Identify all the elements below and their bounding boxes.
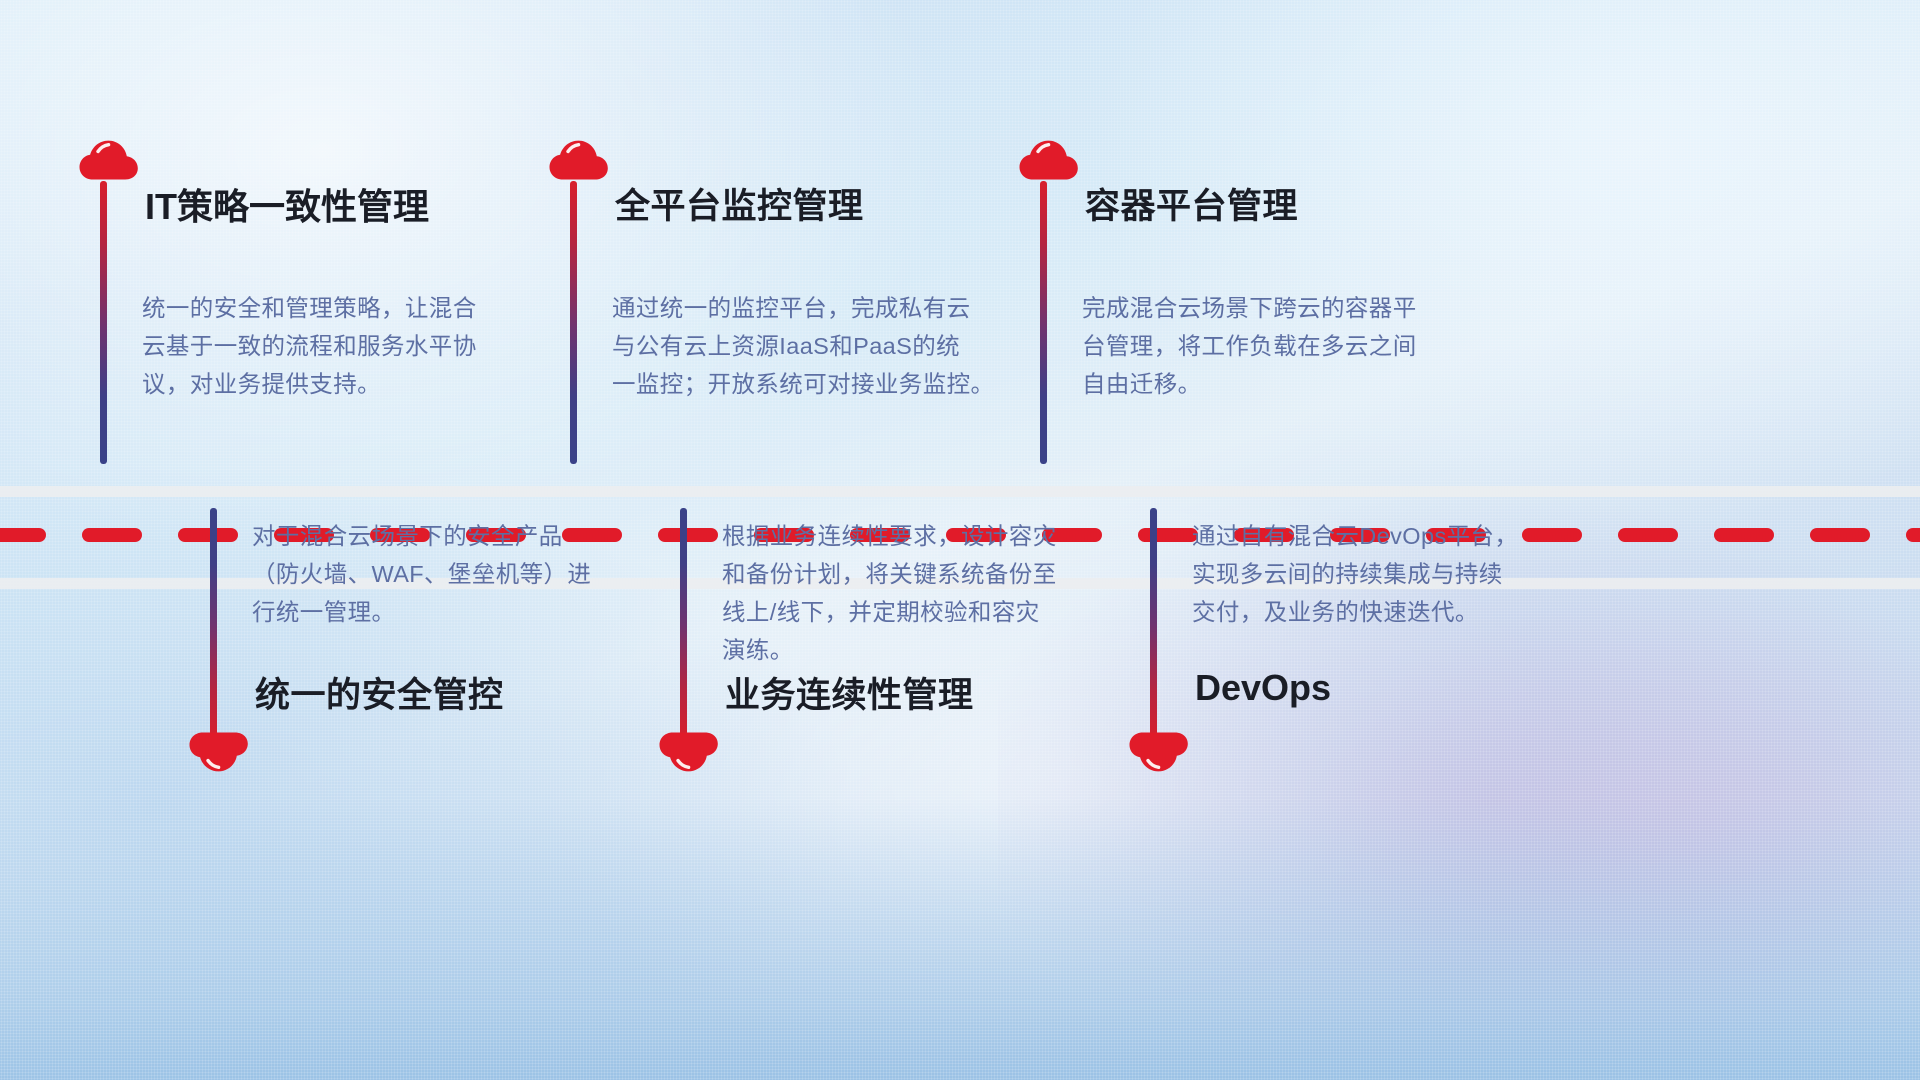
item-description: 通过自有混合云DevOps平台， 实现多云间的持续集成与持续 交付，及业务的快速… <box>1192 517 1518 631</box>
connector-line <box>1150 508 1157 740</box>
infographic-canvas: IT策略一致性管理统一的安全和管理策略，让混合 云基于一致的流程和服务水平协 议… <box>0 0 1920 1080</box>
cloud-icon <box>1126 731 1192 779</box>
item-heading: DevOps <box>1195 667 1331 709</box>
capability-item-devops[interactable]: DevOps通过自有混合云DevOps平台， 实现多云间的持续集成与持续 交付，… <box>0 0 1920 1080</box>
